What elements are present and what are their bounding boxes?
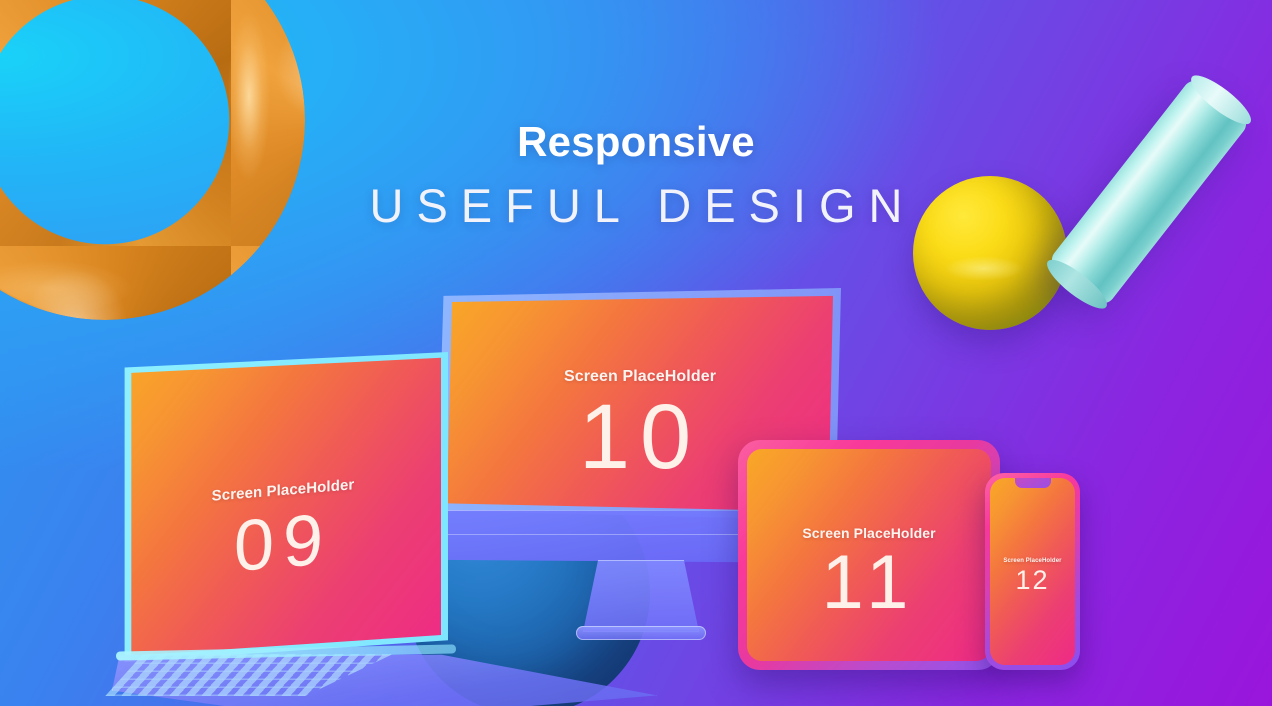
phone-notch [1015,478,1051,488]
laptop-screen[interactable]: Screen PlaceHolder 09 [125,356,441,658]
tablet-screen[interactable]: Screen PlaceHolder 11 [747,449,991,661]
page-title: Responsive [0,118,1272,166]
hero-stage: Responsive USEFUL DESIGN Screen PlaceHol… [0,0,1272,706]
device-phone: Screen PlaceHolder 12 [985,473,1080,670]
phone-screen-number: 12 [990,565,1075,596]
device-tablet: Screen PlaceHolder 11 [738,440,1000,670]
page-subtitle: USEFUL DESIGN [0,178,1272,233]
phone-screen-label: Screen PlaceHolder [990,558,1075,564]
tablet-screen-number: 11 [747,539,991,626]
phone-screen[interactable]: Screen PlaceHolder 12 [990,478,1075,665]
hero-headings: Responsive USEFUL DESIGN [0,118,1272,233]
device-laptop: Screen PlaceHolder 09 [118,352,678,706]
